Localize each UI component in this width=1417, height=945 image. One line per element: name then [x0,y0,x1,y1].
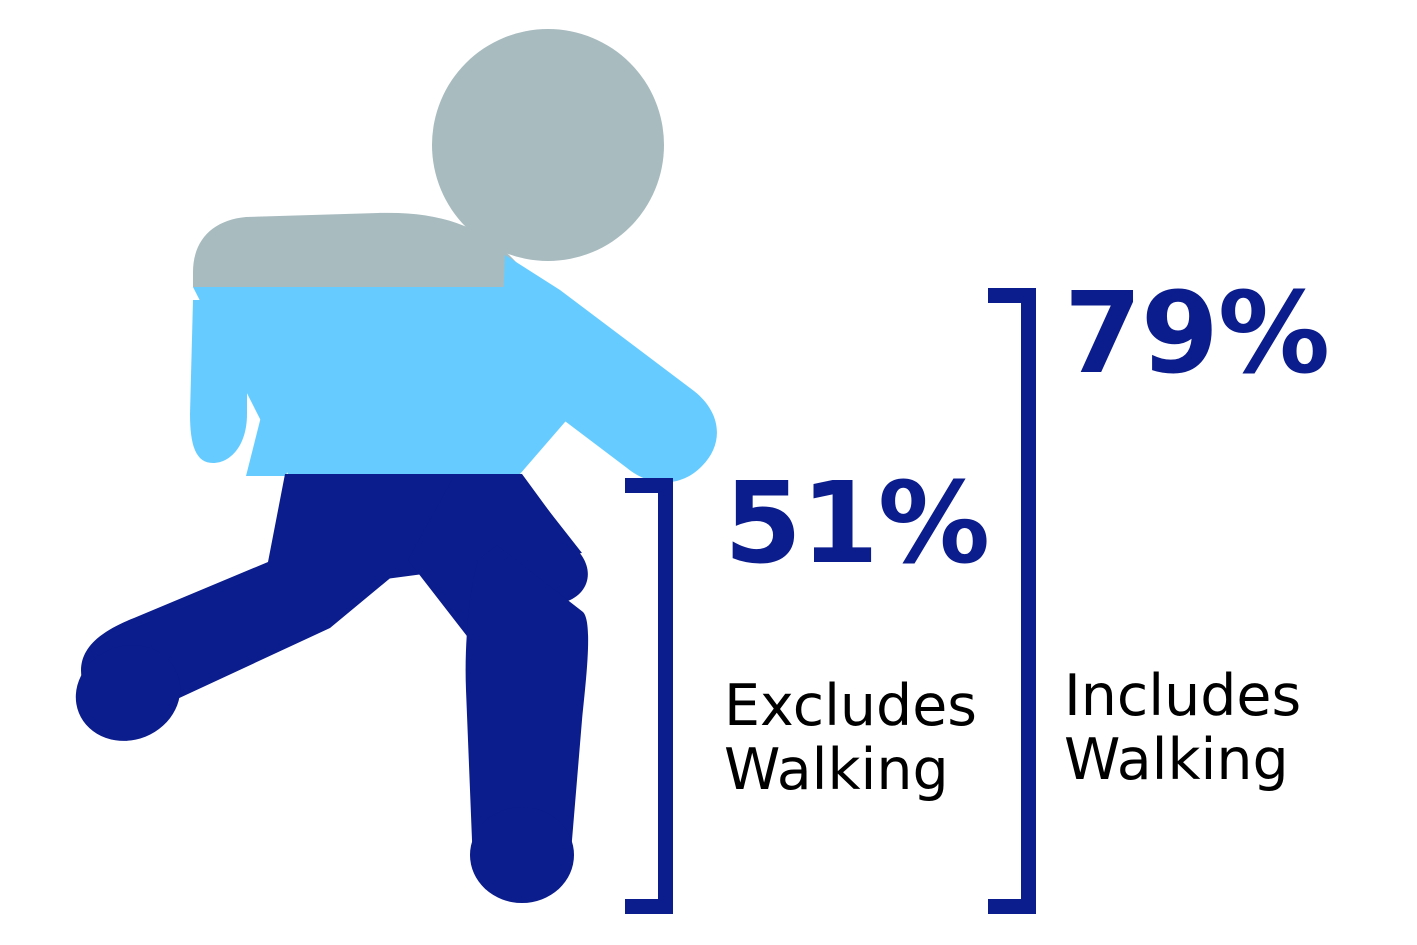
bracket-excludes-walking-svg [625,478,673,914]
stat-value-includes-walking: 79% [1064,278,1324,390]
infographic-canvas: 51% Excludes Walking 79% Includes Walkin… [0,0,1417,945]
bracket-excludes-walking [625,478,673,914]
bracket-shape [625,478,673,914]
caption-line-2: Walking [724,739,974,803]
bracket-includes-walking-svg [988,288,1036,914]
runner-front-foot [470,807,574,903]
stat-includes-walking: 79% Includes Walking [1064,278,1324,793]
stat-excludes-walking: 51% Excludes Walking [724,468,974,803]
caption-line-1: Includes [1064,665,1324,729]
caption-line-1: Excludes [724,675,974,739]
runner-head [432,29,664,261]
bracket-shape [988,288,1036,914]
bracket-includes-walking [988,288,1036,914]
caption-line-2: Walking [1064,729,1324,793]
runner-back-arm [190,300,247,463]
stat-caption-includes-walking: Includes Walking [1064,665,1324,793]
stat-caption-excludes-walking: Excludes Walking [724,675,974,803]
stat-value-excludes-walking: 51% [724,468,974,580]
